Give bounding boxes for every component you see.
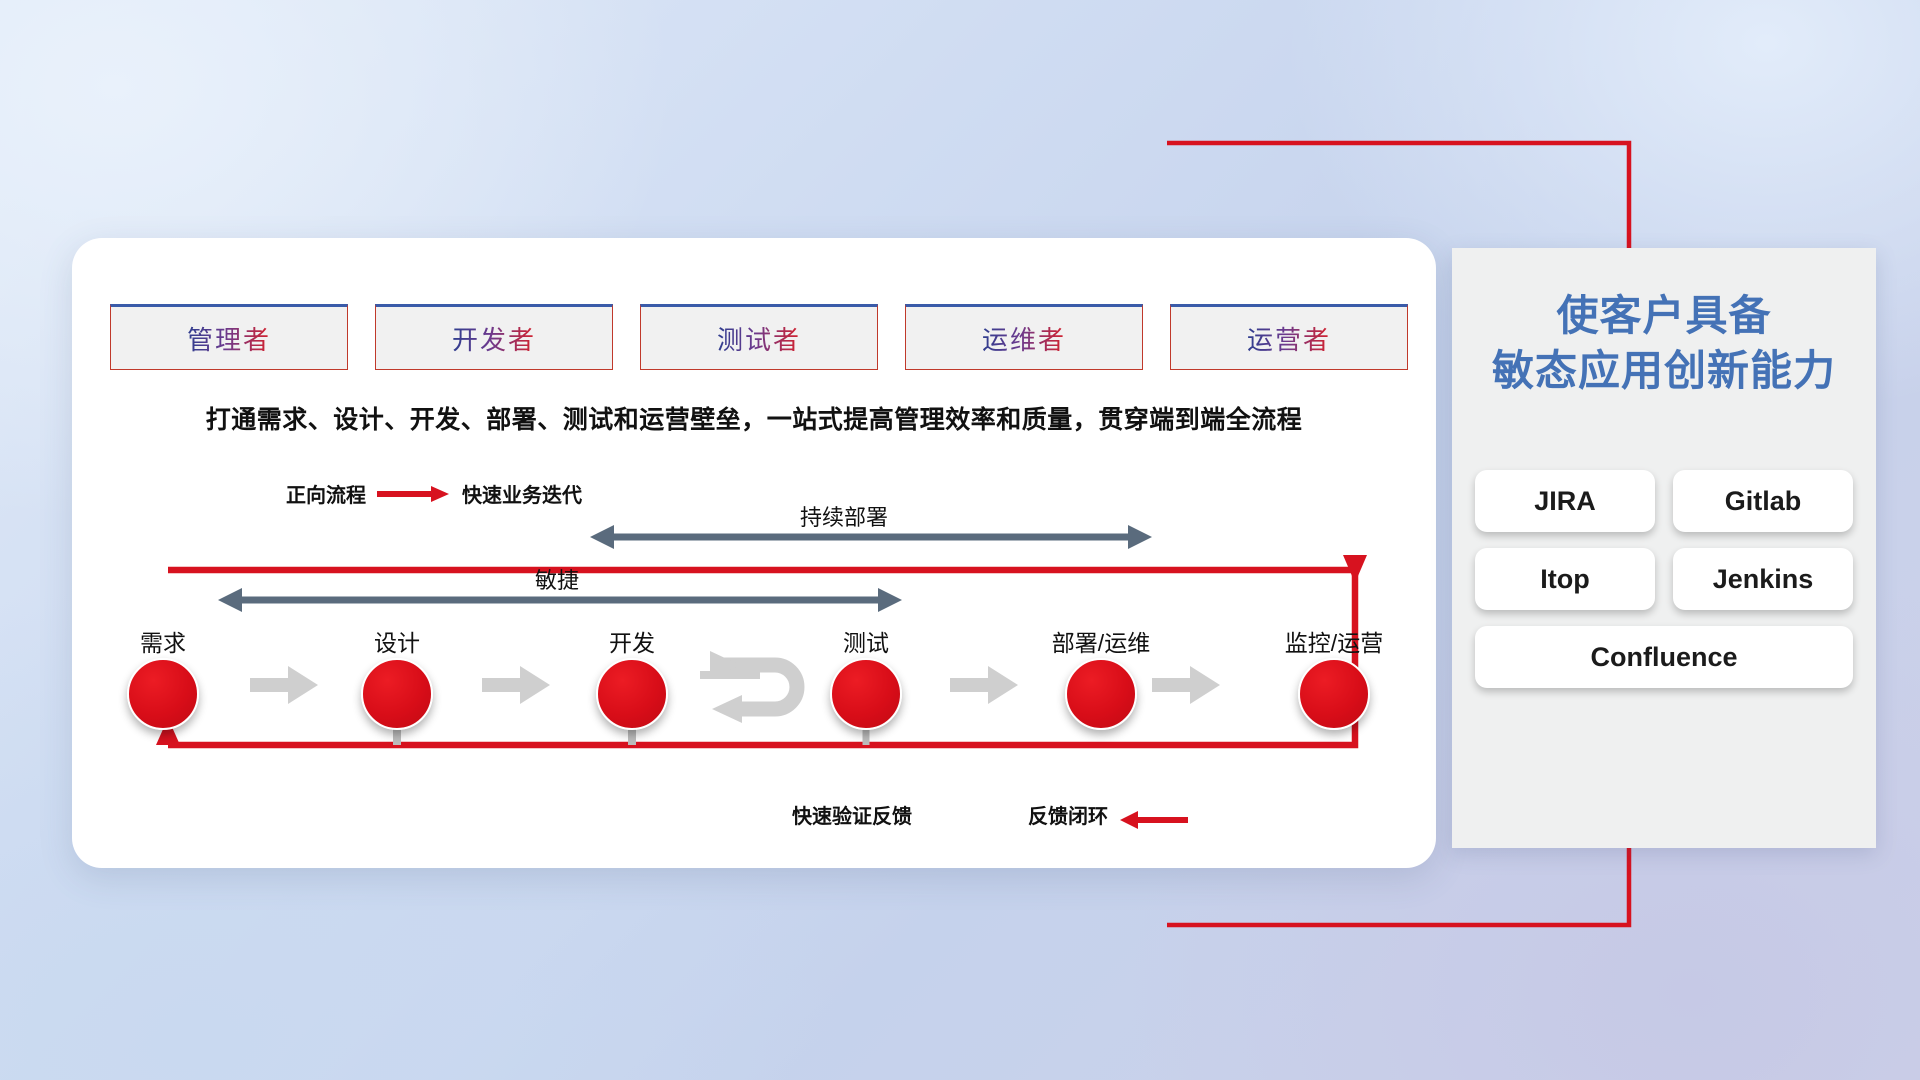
tool-chip-label: Gitlab (1725, 486, 1802, 517)
tool-chip-label: Confluence (1590, 642, 1737, 673)
stage-label-monitor-operations: 监控/运营 (1285, 624, 1383, 658)
stage-node-monitor-operations[interactable] (1298, 658, 1370, 730)
role-chip-label: 管理者 (187, 320, 271, 357)
stage-label-requirement: 需求 (140, 624, 186, 658)
tool-chip-confluence[interactable]: Confluence (1475, 626, 1853, 688)
agile-label: 敏捷 (535, 563, 579, 595)
role-chip-manager[interactable]: 管理者 (110, 304, 348, 370)
feedback-source-label: 反馈闭环 (1028, 800, 1108, 829)
tool-chip-grid: JIRA Gitlab Itop Jenkins Confluence (1452, 470, 1876, 688)
stage-node-requirement[interactable] (127, 658, 199, 730)
value-panel-title-line1: 使客户具备 (1452, 288, 1876, 343)
role-chip-label: 测试者 (717, 320, 801, 357)
stage-node-development[interactable] (596, 658, 668, 730)
tool-chip-label: Itop (1540, 564, 1589, 595)
description-text: 打通需求、设计、开发、部署、测试和运营壁垒，一站式提高管理效率和质量，贯穿端到端… (72, 400, 1436, 436)
tool-chip-itop[interactable]: Itop (1475, 548, 1655, 610)
role-chip-operations[interactable]: 运营者 (1170, 304, 1408, 370)
tool-chip-jenkins[interactable]: Jenkins (1673, 548, 1853, 610)
stage-node-deploy-ops[interactable] (1065, 658, 1137, 730)
forward-flow-legend: 正向流程 快速业务迭代 (286, 479, 582, 508)
forward-flow-source-label: 正向流程 (286, 479, 366, 508)
stage-label-design: 设计 (374, 624, 420, 658)
value-panel-title-line2: 敏态应用创新能力 (1452, 343, 1876, 398)
role-chip-ops[interactable]: 运维者 (905, 304, 1143, 370)
role-chip-row: 管理者 开发者 测试者 运维者 运营者 (110, 304, 1408, 370)
stage-node-design[interactable] (361, 658, 433, 730)
forward-flow-target-label: 快速业务迭代 (462, 479, 582, 508)
feedback-legend: 快速验证反馈 反馈闭环 (792, 800, 1108, 829)
role-chip-developer[interactable]: 开发者 (375, 304, 613, 370)
tool-chip-label: JIRA (1534, 486, 1596, 517)
role-chip-tester[interactable]: 测试者 (640, 304, 878, 370)
tool-chip-label: Jenkins (1713, 564, 1814, 595)
feedback-result-label: 快速验证反馈 (792, 800, 912, 829)
stage-label-deploy-ops: 部署/运维 (1052, 624, 1150, 658)
tool-chip-jira[interactable]: JIRA (1475, 470, 1655, 532)
stage-label-testing: 测试 (843, 624, 889, 658)
tool-chip-gitlab[interactable]: Gitlab (1673, 470, 1853, 532)
role-chip-label: 运营者 (1247, 320, 1331, 357)
role-chip-label: 运维者 (982, 320, 1066, 357)
stage-label-development: 开发 (609, 624, 655, 658)
role-chip-label: 开发者 (452, 320, 536, 357)
value-panel-title: 使客户具备 敏态应用创新能力 (1452, 288, 1876, 399)
value-panel: 使客户具备 敏态应用创新能力 JIRA Gitlab Itop Jenkins … (1452, 248, 1876, 848)
red-right-arrow-icon (375, 483, 453, 505)
stage-node-testing[interactable] (830, 658, 902, 730)
continuous-deployment-label: 持续部署 (800, 500, 888, 532)
